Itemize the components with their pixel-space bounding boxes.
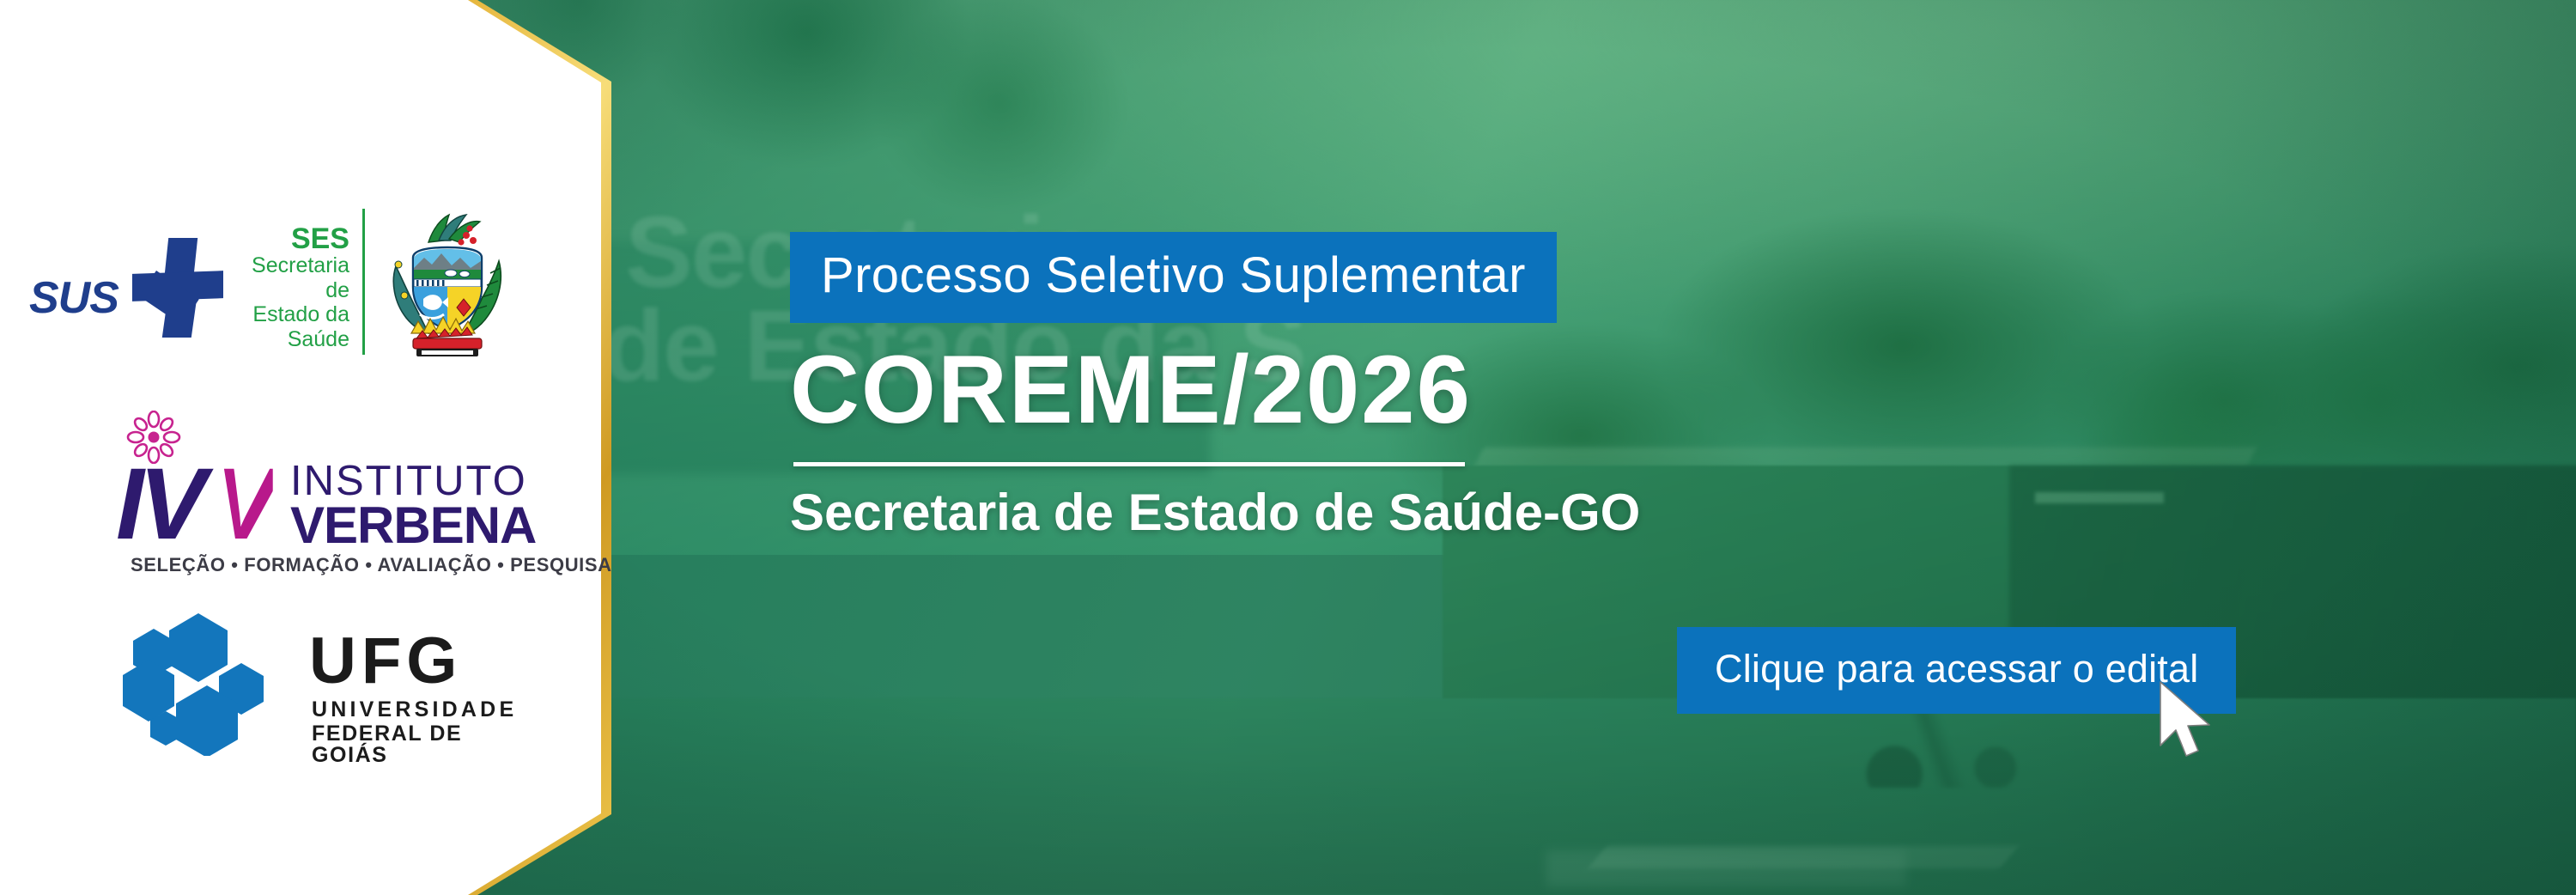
verbena-monogram: IV [116,454,202,555]
ufg-line1: UNIVERSIDADE [312,699,517,721]
logo-stack: SUS SES Secretaria de Estado da Saúde [0,0,601,895]
promotional-banner: Secretaria de Estado da S SUS SES Secret… [0,0,2576,895]
title-divider [793,462,1465,466]
verbena-monogram-accent: V [210,454,273,555]
medical-cross-icon [132,238,223,338]
instituto-verbena-logo: IV V INSTITUTO VERBENA SELEÇÃO • FORMAÇÃ… [82,411,477,569]
sus-logo: SUS [26,228,223,348]
ses-line2: Estado da [223,302,349,327]
ses-logo: SES Secretaria de Estado da Saúde [223,224,365,351]
ufg-logo: UFG UNIVERSIDADE FEDERAL DE GOIÁS [116,610,477,756]
logo-row-institutional: SUS SES Secretaria de Estado da Saúde [26,215,567,361]
sus-wordmark: SUS [29,272,118,324]
ses-abbr: SES [223,224,349,253]
ufg-hexagon-icon [116,610,288,756]
edital-cta-button[interactable]: Clique para acessar o edital [1677,627,2236,714]
ufg-abbr: UFG [309,629,462,694]
ufg-line2: FEDERAL DE GOIÁS [312,723,477,766]
headline-block: Processo Seletivo Suplementar COREME/202… [790,232,1906,539]
logo-divider [362,209,365,355]
eyebrow-badge: Processo Seletivo Suplementar [790,232,1557,323]
verbena-tagline: SELEÇÃO • FORMAÇÃO • AVALIAÇÃO • PESQUIS… [131,554,612,576]
ses-line1: Secretaria de [223,253,349,302]
page-subtitle: Secretaria de Estado de Saúde-GO [790,487,1906,539]
ses-line3: Saúde [223,327,349,352]
goias-coat-of-arms-icon [387,213,507,363]
verbena-word-verbena: VERBENA [290,500,536,551]
page-title: COREME/2026 [790,342,1906,438]
